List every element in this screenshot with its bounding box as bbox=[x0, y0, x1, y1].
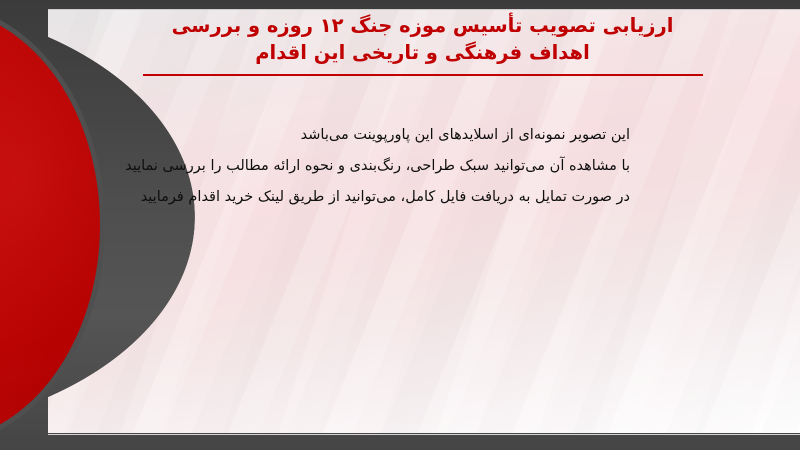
slide-body: این تصویر نمونه‌ای از اسلایدهای این پاور… bbox=[160, 120, 630, 213]
slide-canvas: ارزیابی تصویب تأسیس موزه جنگ ۱۲ روزه و ب… bbox=[0, 0, 800, 450]
title-underline-rule bbox=[143, 74, 703, 76]
body-line-3: در صورت تمایل به دریافت فایل کامل، می‌تو… bbox=[160, 182, 630, 213]
body-line-1: این تصویر نمونه‌ای از اسلایدهای این پاور… bbox=[160, 120, 630, 151]
slide-title-line-2: اهداف فرهنگی و تاریخی این اقدام bbox=[60, 39, 785, 66]
slide-title-line-1: ارزیابی تصویب تأسیس موزه جنگ ۱۲ روزه و ب… bbox=[60, 12, 785, 39]
body-line-2: با مشاهده آن می‌توانید سبک طراحی، رنگ‌بن… bbox=[160, 151, 630, 182]
slide-title: ارزیابی تصویب تأسیس موزه جنگ ۱۲ روزه و ب… bbox=[60, 12, 785, 76]
